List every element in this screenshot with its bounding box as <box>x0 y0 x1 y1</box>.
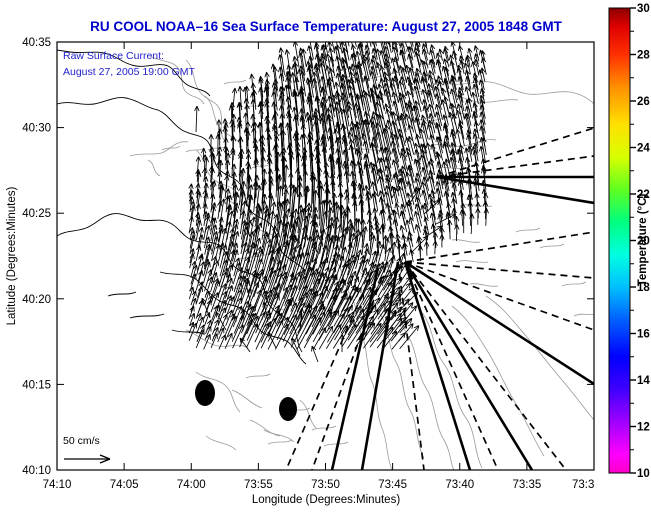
y-tick-label: 40:10 <box>22 465 51 477</box>
x-tick-label: 73:35 <box>512 479 541 491</box>
colorbar-tick-label: 12 <box>637 422 650 434</box>
x-axis-label: Longitude (Degrees:Minutes) <box>252 494 400 506</box>
colorbar-tick-label: 26 <box>637 96 650 108</box>
y-tick-label: 40:15 <box>22 379 51 391</box>
colorbar-tick-label: 16 <box>637 329 650 341</box>
station-marker <box>195 380 215 406</box>
x-tick-label: 73:50 <box>311 479 340 491</box>
x-tick-label: 74:10 <box>43 479 72 491</box>
figure-canvas: RU COOL NOAA–16 Sea Surface Temperature:… <box>0 0 651 518</box>
annotation-line-1: Raw Surface Current: <box>63 50 164 62</box>
colorbar-gradient <box>609 8 630 473</box>
x-tick-label: 73:40 <box>445 479 474 491</box>
page-title: RU COOL NOAA–16 Sea Surface Temperature:… <box>90 19 562 34</box>
colorbar-tick-label: 24 <box>637 143 650 155</box>
station-marker <box>279 397 297 421</box>
scale-legend-label: 50 cm/s <box>63 435 100 447</box>
colorbar-tick-label: 30 <box>637 3 650 15</box>
x-tick-label: 73:45 <box>378 479 407 491</box>
y-tick-label: 40:35 <box>22 37 51 49</box>
colorbar-label: Temperature (°C) <box>637 194 649 287</box>
colorbar-tick-label: 28 <box>637 50 650 62</box>
y-tick-label: 40:25 <box>22 208 51 220</box>
y-tick-label: 40:20 <box>22 294 51 306</box>
x-tick-label: 74:05 <box>110 479 139 491</box>
x-tick-label: 73:3 <box>572 479 594 491</box>
x-tick-label: 74:00 <box>177 479 206 491</box>
map-plot: Raw Surface Current: August 27, 2005 19:… <box>6 23 594 506</box>
colorbar-tick-label: 14 <box>637 375 650 387</box>
x-tick-label: 73:55 <box>244 479 273 491</box>
annotation-line-2: August 27, 2005 19:00 GMT <box>63 66 196 78</box>
y-tick-label: 40:30 <box>22 123 51 135</box>
y-axis-label: Latitude (Degrees:Minutes) <box>6 186 18 325</box>
colorbar-tick-label: 10 <box>637 468 650 480</box>
